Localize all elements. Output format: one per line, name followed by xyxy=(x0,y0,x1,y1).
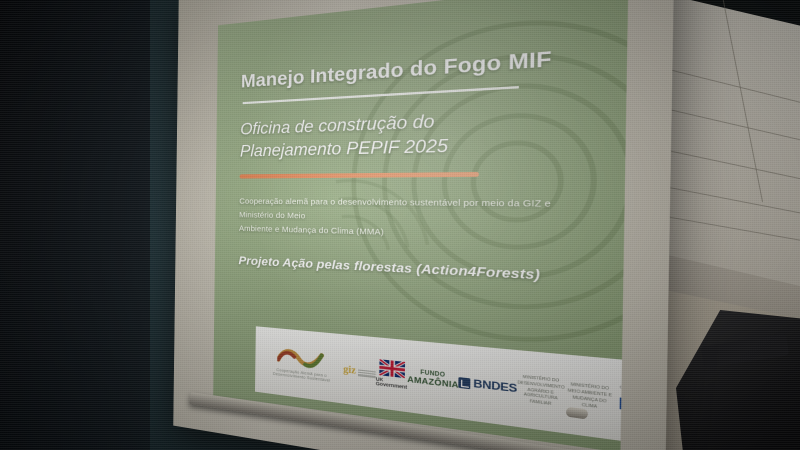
logo-giz: giz xyxy=(343,364,376,378)
presentation-slide: Manejo Integrado do Fogo MIF Oficina de … xyxy=(213,0,628,450)
slide-text-block: Manejo Integrado do Fogo MIF Oficina de … xyxy=(238,42,602,286)
fundo-amazonia-line2: AMAZÔNIA xyxy=(407,375,459,389)
union-jack-icon xyxy=(379,359,405,378)
projection-screen: Manejo Integrado do Fogo MIF Oficina de … xyxy=(173,0,675,450)
logo-cooperacao-alema: Cooperação Alemã para o Desenvolvimento … xyxy=(261,344,343,385)
logo-fundo-amazonia: FUNDO AMAZÔNIA xyxy=(407,369,459,389)
logo-caption: UK Government xyxy=(376,377,408,391)
logo-ministerio-desenvolvimento: MINISTÉRIO DO DESENVOLVIMENTO AGRÁRIO E … xyxy=(517,373,565,409)
room-photo-scene: Manejo Integrado do Fogo MIF Oficina de … xyxy=(0,0,800,450)
slide-credits: Cooperação alemã para o desenvolvimento … xyxy=(239,194,600,246)
giz-subtext-icon xyxy=(358,369,376,377)
logo-bndes: BNDES xyxy=(459,376,517,394)
slide-subtitle: Oficina de construção do Planejamento PE… xyxy=(240,103,601,163)
accent-rule xyxy=(240,173,479,179)
bndes-mark-icon xyxy=(459,377,471,389)
logo-caption: MINISTÉRIO DO DESENVOLVIMENTO AGRÁRIO E … xyxy=(517,373,565,409)
giz-wordmark: giz xyxy=(343,364,356,376)
slide-subtitle-line1: Oficina de construção do xyxy=(240,112,434,139)
bndes-wordmark: BNDES xyxy=(473,378,517,394)
logo-uk-government: UK Government xyxy=(376,358,408,390)
